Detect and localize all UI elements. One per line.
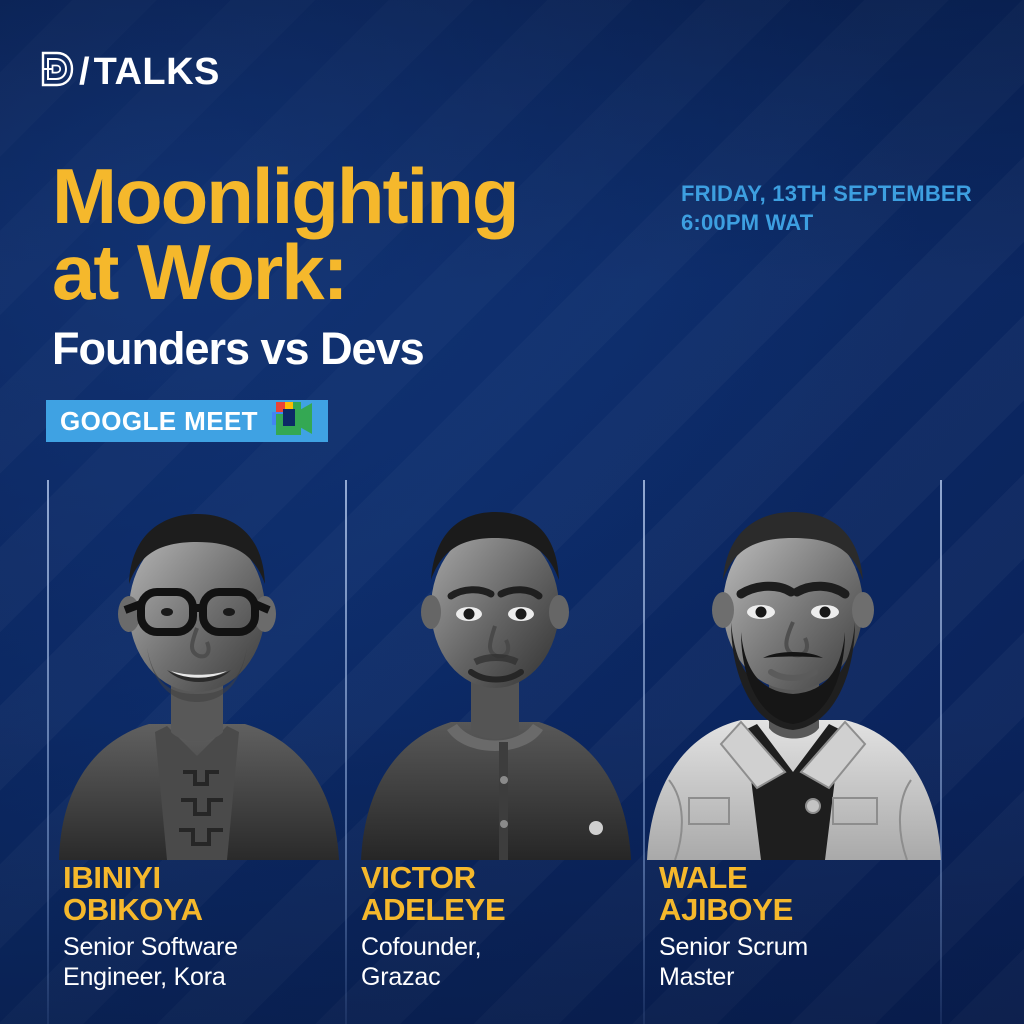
title-block: Moonlighting at Work: Founders vs Devs (52, 158, 692, 375)
speaker-info: VICTOR ADELEYE Cofounder, Grazac (361, 862, 643, 992)
speaker-role: Senior Scrum Master (659, 932, 941, 992)
event-poster: / TALKS Moonlighting at Work: Founders v… (0, 0, 1024, 1024)
google-meet-badge[interactable]: GOOGLE MEET (46, 400, 328, 442)
google-meet-label: GOOGLE MEET (60, 408, 258, 434)
event-subtitle: Founders vs Devs (52, 323, 692, 375)
brand-logo[interactable]: / TALKS (40, 50, 220, 93)
logo-wordmark: TALKS (94, 53, 220, 91)
speaker-role: Senior Software Engineer, Kora (63, 932, 345, 992)
event-title: Moonlighting at Work: (52, 158, 692, 311)
speaker-card: IBINIYI OBIKOYA Senior Software Engineer… (49, 480, 345, 1024)
speaker-info: IBINIYI OBIKOYA Senior Software Engineer… (63, 862, 345, 992)
speaker-role: Cofounder, Grazac (361, 932, 643, 992)
speaker-card: VICTOR ADELEYE Cofounder, Grazac (347, 480, 643, 1024)
d-monogram-icon (40, 50, 74, 93)
speaker-photo (645, 480, 941, 860)
event-datetime: FRIDAY, 13TH SEPTEMBER 6:00PM WAT (681, 179, 1011, 237)
speaker-name: IBINIYI OBIKOYA (63, 862, 345, 926)
speaker-photo (49, 480, 345, 860)
google-meet-icon (268, 398, 320, 445)
speaker-card: WALE AJIBOYE Senior Scrum Master (645, 480, 941, 1024)
logo-slash: / (79, 53, 90, 91)
speaker-name: VICTOR ADELEYE (361, 862, 643, 926)
event-date: FRIDAY, 13TH SEPTEMBER (681, 179, 1011, 208)
speaker-info: WALE AJIBOYE Senior Scrum Master (659, 862, 941, 992)
event-time: 6:00PM WAT (681, 208, 1011, 237)
speaker-photo (347, 480, 643, 860)
speaker-name: WALE AJIBOYE (659, 862, 941, 926)
